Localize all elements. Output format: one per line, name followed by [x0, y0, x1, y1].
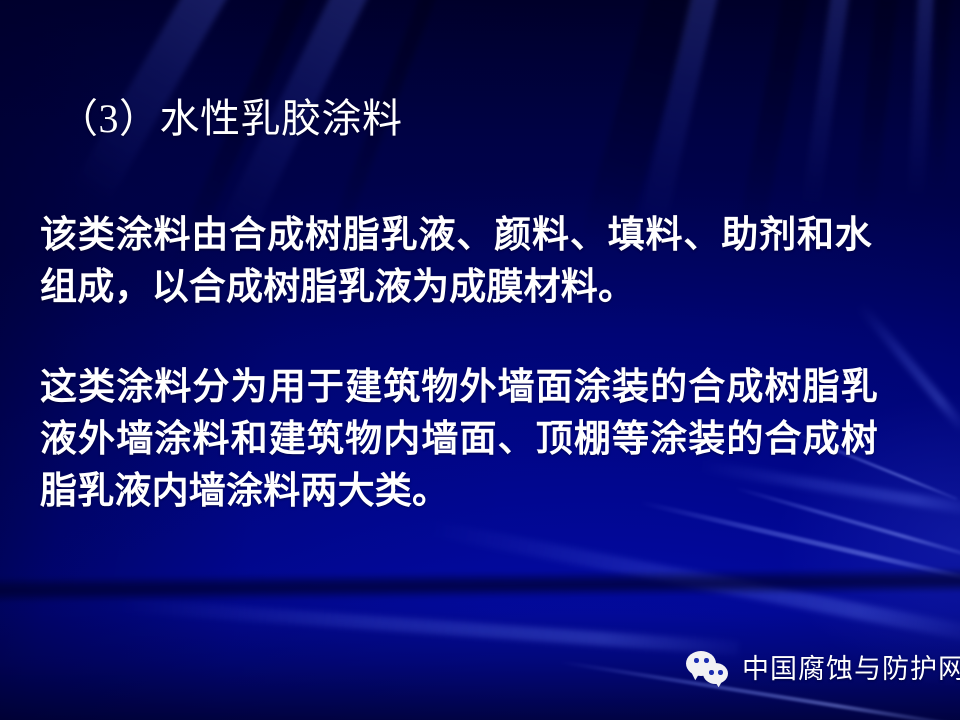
- wechat-icon: [686, 650, 732, 688]
- slide-canvas: （3）水性乳胶涂料 该类涂料由合成树脂乳液、颜料、填料、助剂和水组成，以合成树脂…: [0, 0, 960, 720]
- wechat-eye-2: [704, 658, 709, 663]
- paragraph-2: 这类涂料分为用于建筑物外墙面涂装的合成树脂乳液外墙涂料和建筑物内墙面、顶棚等涂装…: [40, 362, 878, 518]
- wechat-eye-1: [694, 658, 699, 663]
- page-title: （3）水性乳胶涂料: [58, 96, 403, 142]
- slide-content: （3）水性乳胶涂料 该类涂料由合成树脂乳液、颜料、填料、助剂和水组成，以合成树脂…: [0, 0, 960, 720]
- wechat-eye-3: [709, 670, 714, 675]
- wechat-eye-4: [718, 670, 723, 675]
- watermark: 中国腐蚀与防护网: [686, 650, 960, 688]
- watermark-label: 中国腐蚀与防护网: [742, 656, 960, 683]
- wechat-bubble-small: [703, 663, 728, 684]
- paragraph-1: 该类涂料由合成树脂乳液、颜料、填料、助剂和水组成，以合成树脂乳液为成膜材料。: [40, 210, 872, 314]
